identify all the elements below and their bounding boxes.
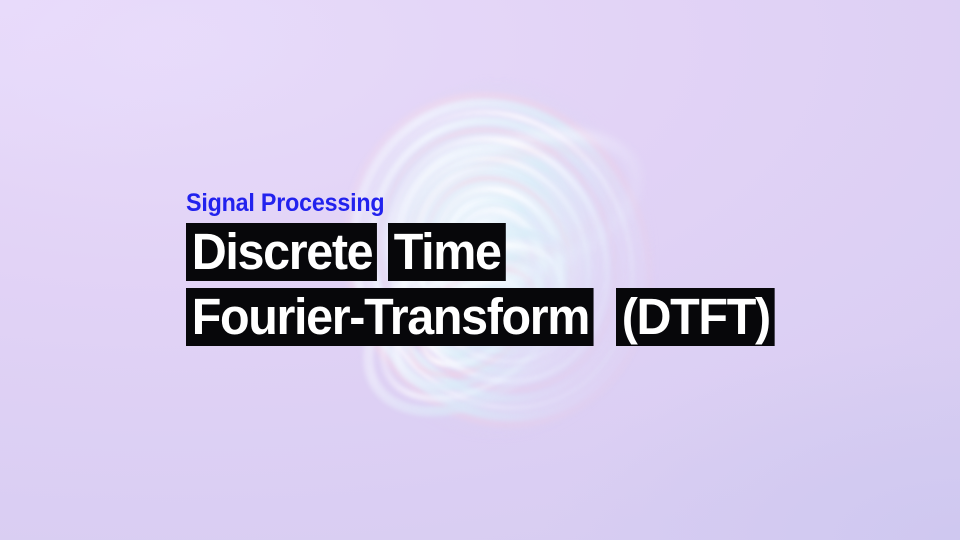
title-slide: Signal Processing DiscreteTime Fourier-T… (0, 0, 960, 540)
eyebrow-label: Signal Processing (186, 190, 837, 216)
title-segment: Time (388, 223, 505, 281)
title-block: Signal Processing DiscreteTime Fourier-T… (186, 190, 886, 346)
title-line-1: DiscreteTime (186, 223, 886, 281)
title-segment: Fourier-Transform (186, 288, 594, 346)
title-segment: Discrete (186, 223, 377, 281)
title-segment: (DTFT) (616, 288, 775, 346)
title-line-2: Fourier-Transform(DTFT) (186, 288, 886, 346)
